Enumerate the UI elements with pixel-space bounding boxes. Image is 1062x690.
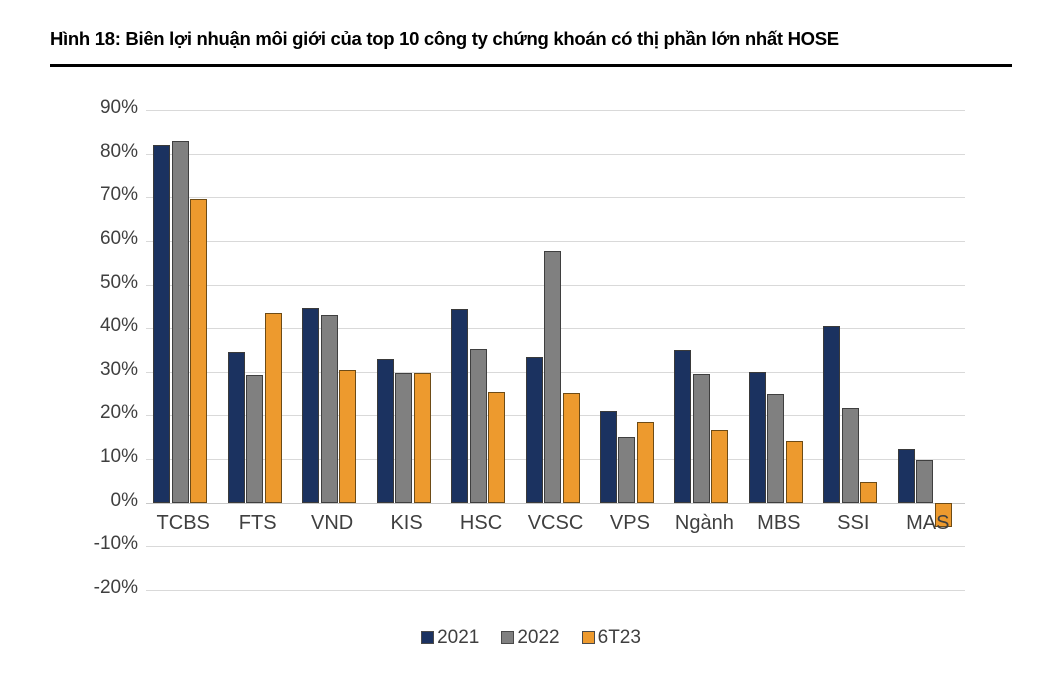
bar-KIS-2022 xyxy=(395,373,412,503)
bar-KIS-2021 xyxy=(377,359,394,503)
bar-HSC-6T23 xyxy=(488,392,505,503)
gridline xyxy=(146,503,965,504)
legend-item-2021[interactable]: 2021 xyxy=(421,628,479,647)
bar-MBS-2022 xyxy=(767,394,784,503)
legend-swatch-icon xyxy=(582,631,595,644)
gridline xyxy=(146,590,965,591)
gridline xyxy=(146,110,965,111)
x-axis-tick-label: Ngành xyxy=(667,512,741,535)
bar-TCBS-2022 xyxy=(172,141,189,503)
y-axis-tick-label: 20% xyxy=(80,402,138,424)
chart-legend: 202120226T23 xyxy=(0,628,1062,647)
x-axis-tick-label: VCSC xyxy=(518,512,592,535)
bar-Ngành-2021 xyxy=(674,350,691,503)
bar-chart: 90%80%70%60%50%40%30%20%10%0%-10%-20% TC… xyxy=(0,0,1062,690)
bar-VPS-2021 xyxy=(600,411,617,503)
legend-label: 2021 xyxy=(437,628,479,647)
y-axis-tick-label: 90% xyxy=(80,97,138,119)
x-axis-tick-label: VPS xyxy=(593,512,667,535)
gridline xyxy=(146,197,965,198)
bar-SSI-2022 xyxy=(842,408,859,502)
x-axis-tick-label: TCBS xyxy=(146,512,220,535)
y-axis-tick-label: -20% xyxy=(80,577,138,599)
x-axis-tick-label: VND xyxy=(295,512,369,535)
bar-MBS-6T23 xyxy=(786,441,803,503)
legend-label: 6T23 xyxy=(598,628,641,647)
bar-Ngành-6T23 xyxy=(711,430,728,503)
y-axis-tick-label: 30% xyxy=(80,359,138,381)
bar-VCSC-2021 xyxy=(526,357,543,502)
legend-item-6T23[interactable]: 6T23 xyxy=(582,628,641,647)
y-axis-tick-label: 80% xyxy=(80,141,138,163)
gridline xyxy=(146,154,965,155)
y-axis-tick-label: 60% xyxy=(80,228,138,250)
x-axis-tick-label: MBS xyxy=(742,512,816,535)
bar-TCBS-2021 xyxy=(153,145,170,503)
bar-VND-2022 xyxy=(321,315,338,503)
gridline xyxy=(146,546,965,547)
bar-KIS-6T23 xyxy=(414,373,431,503)
y-axis: 90%80%70%60%50%40%30%20%10%0%-10%-20% xyxy=(80,0,138,690)
bar-FTS-2022 xyxy=(246,375,263,503)
x-axis-tick-label: FTS xyxy=(220,512,294,535)
bar-TCBS-6T23 xyxy=(190,199,207,503)
bar-MBS-2021 xyxy=(749,372,766,503)
x-axis-tick-label: SSI xyxy=(816,512,890,535)
legend-item-2022[interactable]: 2022 xyxy=(501,628,559,647)
bar-VPS-6T23 xyxy=(637,422,654,503)
y-axis-tick-label: 10% xyxy=(80,446,138,468)
y-axis-tick-label: 40% xyxy=(80,315,138,337)
x-axis-tick-label: KIS xyxy=(369,512,443,535)
bar-FTS-6T23 xyxy=(265,313,282,503)
bar-SSI-2021 xyxy=(823,326,840,503)
legend-swatch-icon xyxy=(501,631,514,644)
y-axis-tick-label: -10% xyxy=(80,533,138,555)
bar-MAS-2021 xyxy=(898,449,915,503)
y-axis-tick-label: 50% xyxy=(80,272,138,294)
bar-FTS-2021 xyxy=(228,352,245,503)
gridline xyxy=(146,241,965,242)
bar-VCSC-6T23 xyxy=(563,393,580,503)
bar-HSC-2021 xyxy=(451,309,468,503)
y-axis-tick-label: 0% xyxy=(80,490,138,512)
bar-Ngành-2022 xyxy=(693,374,710,503)
y-axis-tick-label: 70% xyxy=(80,184,138,206)
bar-VND-6T23 xyxy=(339,370,356,503)
bar-VCSC-2022 xyxy=(544,251,561,503)
legend-swatch-icon xyxy=(421,631,434,644)
x-axis-tick-label: HSC xyxy=(444,512,518,535)
bar-HSC-2022 xyxy=(470,349,487,503)
bar-VPS-2022 xyxy=(618,437,635,502)
x-axis-tick-label: MAS xyxy=(891,512,965,535)
legend-label: 2022 xyxy=(517,628,559,647)
bar-MAS-2022 xyxy=(916,460,933,502)
bar-VND-2021 xyxy=(302,308,319,503)
bar-SSI-6T23 xyxy=(860,482,877,503)
